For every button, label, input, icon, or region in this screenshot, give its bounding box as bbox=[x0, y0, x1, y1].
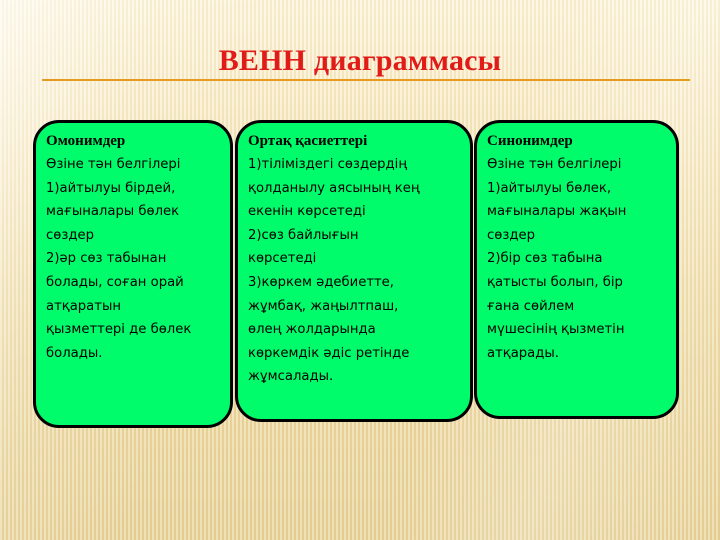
body-line: көркемдік әдіс ретінде bbox=[248, 342, 462, 366]
body-line: 2)бір сөз табына bbox=[487, 247, 668, 271]
venn-box-body: 1)тіліміздегі сөздердің қолданылу аясыны… bbox=[248, 153, 462, 389]
body-line: қолданылу аясының кең bbox=[248, 177, 462, 201]
body-line: жұмбақ, жаңылтпаш, bbox=[248, 295, 462, 319]
venn-box-heading: Омонимдер bbox=[46, 131, 222, 152]
venn-box-ortaq-qasietteri[interactable]: Ортақ қасиеттері 1)тіліміздегі сөздердің… bbox=[235, 120, 473, 422]
venn-box-omonimder[interactable]: Омонимдер Өзіне тән белгілері 1)айтылуы … bbox=[33, 120, 233, 428]
page-title: ВЕНН диаграммасы bbox=[0, 44, 720, 78]
title-underline-rule bbox=[42, 79, 690, 81]
body-line: атқарады. bbox=[487, 342, 668, 366]
body-line: мағыналары жақын bbox=[487, 200, 668, 224]
venn-box-sinonimder[interactable]: Синонимдер Өзіне тән белгілері 1)айтылуы… bbox=[474, 120, 679, 419]
venn-diagram-slide: ВЕНН диаграммасы Омонимдер Өзіне тән бел… bbox=[0, 0, 720, 540]
body-line: қызметтері де бөлек bbox=[46, 318, 222, 342]
body-line: өлең жолдарында bbox=[248, 318, 462, 342]
body-line: екенін көрсетеді bbox=[248, 200, 462, 224]
body-line: 1)айтылуы бірдей, bbox=[46, 177, 222, 201]
body-line: сөздер bbox=[487, 224, 668, 248]
body-line: көрсетеді bbox=[248, 247, 462, 271]
body-line: 2)сөз байлығын bbox=[248, 224, 462, 248]
venn-box-heading: Синонимдер bbox=[487, 131, 668, 152]
venn-box-body: Өзіне тән белгілері 1)айтылуы бірдей, ма… bbox=[46, 153, 222, 365]
body-line: 1)тіліміздегі сөздердің bbox=[248, 153, 462, 177]
body-line: мүшесінің қызметін bbox=[487, 318, 668, 342]
venn-box-heading: Ортақ қасиеттері bbox=[248, 131, 462, 152]
body-line: қатысты болып, бір bbox=[487, 271, 668, 295]
body-line: мағыналары бөлек bbox=[46, 200, 222, 224]
body-line: болады, соған орай bbox=[46, 271, 222, 295]
body-line: ғана сөйлем bbox=[487, 295, 668, 319]
body-line: жұмсалады. bbox=[248, 365, 462, 389]
body-line: 3)көркем әдебиетте, bbox=[248, 271, 462, 295]
venn-box-body: Өзіне тән белгілері 1)айтылуы бөлек, мағ… bbox=[487, 153, 668, 365]
body-line: Өзіне тән белгілері bbox=[487, 153, 668, 177]
body-line: Өзіне тән белгілері bbox=[46, 153, 222, 177]
body-line: сөздер bbox=[46, 224, 222, 248]
body-line: атқаратын bbox=[46, 295, 222, 319]
body-line: болады. bbox=[46, 342, 222, 366]
body-line: 1)айтылуы бөлек, bbox=[487, 177, 668, 201]
body-line: 2)әр сөз табынан bbox=[46, 247, 222, 271]
